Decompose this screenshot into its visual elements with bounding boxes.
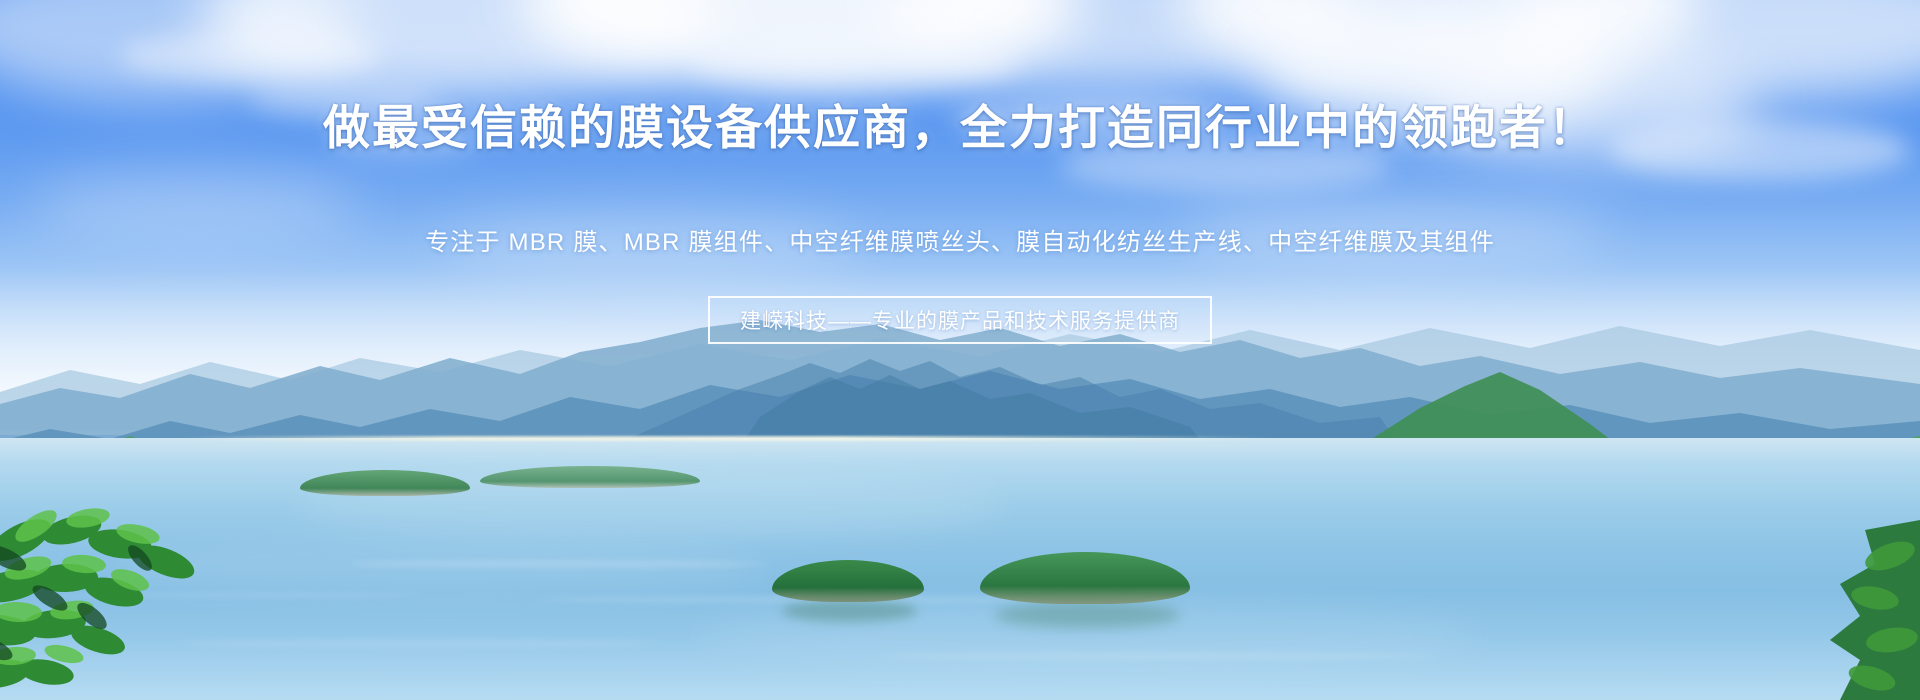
island-reflection: [995, 602, 1180, 628]
hero-banner: 做最受信赖的膜设备供应商，全力打造同行业中的领跑者！ 专注于 MBR 膜、MBR…: [0, 0, 1920, 700]
horizon-haze: [0, 270, 1920, 435]
tagline-box: 建嵘科技——专业的膜产品和技术服务提供商: [708, 296, 1212, 344]
island-reflection: [782, 600, 917, 622]
water-ripple: [880, 652, 1440, 660]
banner-subtitle: 专注于 MBR 膜、MBR 膜组件、中空纤维膜喷丝头、膜自动化纺丝生产线、中空纤…: [0, 222, 1920, 257]
foreground-foliage-branch: [0, 500, 340, 700]
water-sheen: [300, 470, 1000, 540]
tagline-container: 建嵘科技——专业的膜产品和技术服务提供商: [0, 296, 1920, 344]
water-ripple: [540, 596, 1060, 603]
right-foreground-foliage: [1660, 520, 1920, 700]
tagline-text: 建嵘科技——专业的膜产品和技术服务提供商: [740, 305, 1180, 335]
water-ripple: [350, 560, 770, 568]
shoreline-strip: [180, 436, 1280, 441]
banner-headline: 做最受信赖的膜设备供应商，全力打造同行业中的领跑者！: [0, 103, 1920, 152]
